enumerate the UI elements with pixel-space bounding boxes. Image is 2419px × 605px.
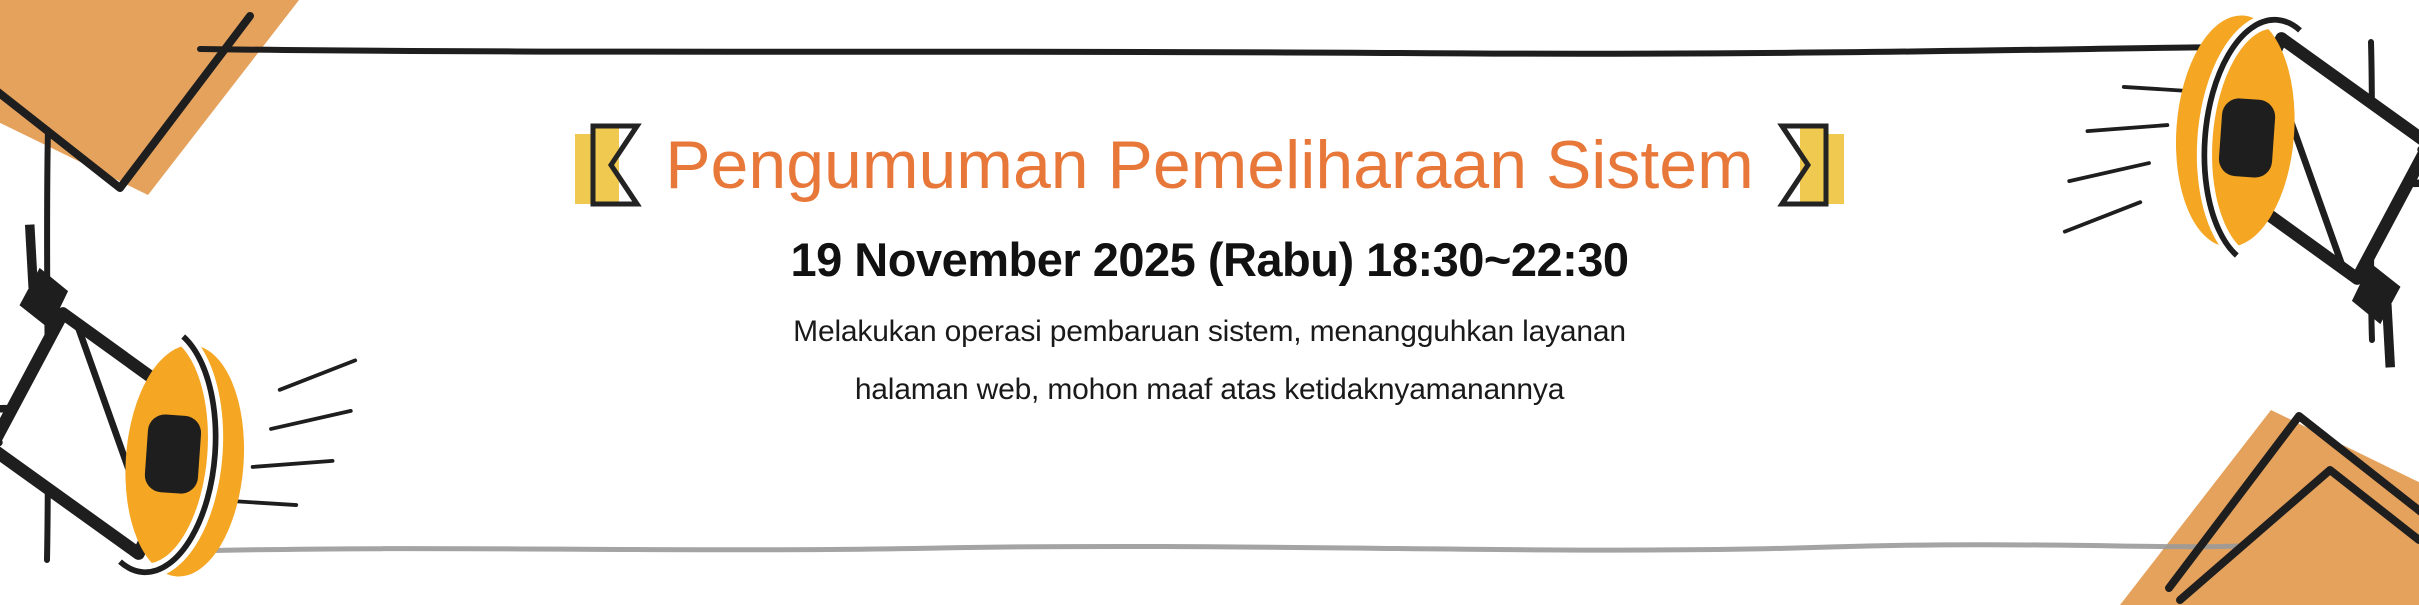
message-line-1: Melakukan operasi pembaruan sistem, mena… — [793, 317, 1626, 347]
page-title: Pengumuman Pemeliharaan Sistem — [649, 131, 1770, 199]
double-angle-bracket-right-icon — [1770, 122, 1848, 208]
maintenance-datetime: 19 November 2025 (Rabu) 18:30~22:30 — [790, 236, 1628, 283]
maintenance-message: Melakukan operasi pembaruan sistem, mena… — [793, 317, 1626, 405]
title-row: Pengumuman Pemeliharaan Sistem — [571, 122, 1848, 208]
banner-content: Pengumuman Pemeliharaan Sistem 19 Novemb… — [0, 0, 2419, 605]
double-angle-bracket-left-icon — [571, 122, 649, 208]
message-line-2: halaman web, mohon maaf atas ketidaknyam… — [855, 375, 1564, 405]
maintenance-announcement-banner: Pengumuman Pemeliharaan Sistem 19 Novemb… — [0, 0, 2419, 605]
